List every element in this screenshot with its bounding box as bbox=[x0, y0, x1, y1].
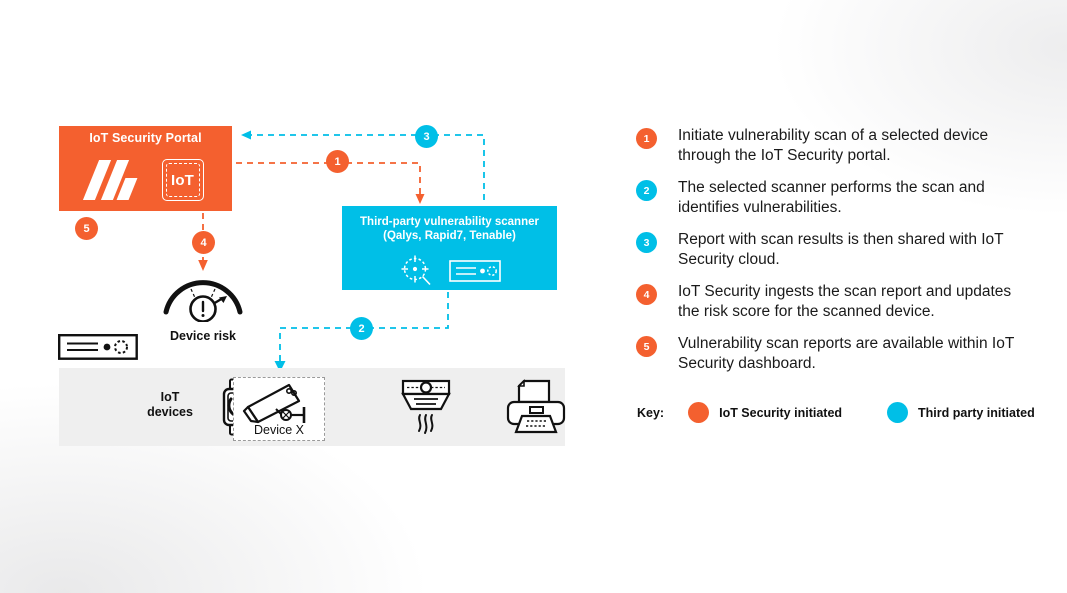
device-risk-label: Device risk bbox=[160, 329, 246, 343]
diagram-canvas: IoT Security Portal IoT Third-party vuln… bbox=[0, 0, 1067, 593]
flow-badge-2: 2 bbox=[350, 317, 373, 340]
step-item-1: 1 Initiate vulnerability scan of a selec… bbox=[636, 126, 1031, 165]
scan-report-server-icon bbox=[58, 334, 138, 360]
device-x-label: Device X bbox=[234, 423, 324, 437]
legend-label: Key: bbox=[637, 406, 664, 420]
scanner-server-icon bbox=[449, 260, 501, 282]
flow-line-3 bbox=[249, 135, 484, 200]
portal-logo-row: IoT bbox=[59, 154, 232, 206]
device-item-camera-selected[interactable]: Device X bbox=[233, 377, 325, 441]
step-text-1: Initiate vulnerability scan of a selecte… bbox=[678, 126, 1031, 165]
step-badge-3: 3 bbox=[636, 232, 657, 253]
flow-arrow-4 bbox=[198, 260, 208, 271]
portal-title: IoT Security Portal bbox=[59, 131, 232, 145]
step-text-2: The selected scanner performs the scan a… bbox=[678, 178, 1031, 217]
step-item-5: 5 Vulnerability scan reports are availab… bbox=[636, 334, 1031, 373]
device-risk-indicator: Device risk bbox=[160, 272, 246, 343]
risk-gauge-icon bbox=[160, 272, 246, 322]
flow-arrow-1 bbox=[416, 194, 425, 204]
legend-text-cyan: Third party initiated bbox=[918, 406, 1035, 420]
step-badge-1: 1 bbox=[636, 128, 657, 149]
device-item-printer[interactable] bbox=[504, 375, 568, 439]
step-item-3: 3 Report with scan results is then share… bbox=[636, 230, 1031, 269]
legend-item-third-party: Third party initiated bbox=[887, 402, 1035, 423]
iot-badge-label: IoT bbox=[171, 172, 194, 189]
scanner-title: Third-party vulnerability scanner (Qalys… bbox=[342, 215, 557, 243]
iot-badge-icon: IoT bbox=[162, 159, 204, 201]
step-item-2: 2 The selected scanner performs the scan… bbox=[636, 178, 1031, 217]
iot-devices-label-line1: IoT bbox=[131, 390, 209, 405]
iot-devices-label-line2: devices bbox=[131, 405, 209, 420]
flow-badge-1: 1 bbox=[326, 150, 349, 173]
step-text-3: Report with scan results is then shared … bbox=[678, 230, 1031, 269]
scanner-title-line2: (Qalys, Rapid7, Tenable) bbox=[342, 229, 557, 243]
scanner-icon-row bbox=[342, 254, 557, 288]
flow-arrow-3 bbox=[241, 131, 251, 140]
flow-badge-3: 3 bbox=[415, 125, 438, 148]
flow-badge-5: 5 bbox=[75, 217, 98, 240]
legend-key: Key: IoT Security initiated Third party … bbox=[637, 402, 1035, 423]
step-text-4: IoT Security ingests the scan report and… bbox=[678, 282, 1031, 321]
legend-item-iot-security: IoT Security initiated bbox=[688, 402, 842, 423]
device-item-smoke-detector[interactable] bbox=[394, 375, 458, 439]
legend-dot-orange bbox=[688, 402, 709, 423]
step-text-5: Vulnerability scan reports are available… bbox=[678, 334, 1031, 373]
step-item-4: 4 IoT Security ingests the scan report a… bbox=[636, 282, 1031, 321]
scan-target-icon bbox=[399, 254, 435, 288]
scanner-title-line1: Third-party vulnerability scanner bbox=[342, 215, 557, 229]
iot-devices-label: IoT devices bbox=[131, 390, 209, 420]
step-badge-4: 4 bbox=[636, 284, 657, 305]
security-camera-icon bbox=[242, 381, 316, 425]
step-badge-2: 2 bbox=[636, 180, 657, 201]
printer-icon bbox=[505, 378, 567, 436]
palo-alto-networks-logo bbox=[88, 159, 144, 201]
steps-list: 1 Initiate vulnerability scan of a selec… bbox=[636, 126, 1031, 386]
legend-dot-cyan bbox=[887, 402, 908, 423]
iot-security-portal-box[interactable]: IoT Security Portal IoT bbox=[59, 126, 232, 211]
third-party-scanner-box[interactable]: Third-party vulnerability scanner (Qalys… bbox=[342, 206, 557, 290]
step-badge-5: 5 bbox=[636, 336, 657, 357]
legend-text-orange: IoT Security initiated bbox=[719, 406, 842, 420]
flow-badge-4: 4 bbox=[192, 231, 215, 254]
smoke-detector-icon bbox=[397, 377, 455, 437]
